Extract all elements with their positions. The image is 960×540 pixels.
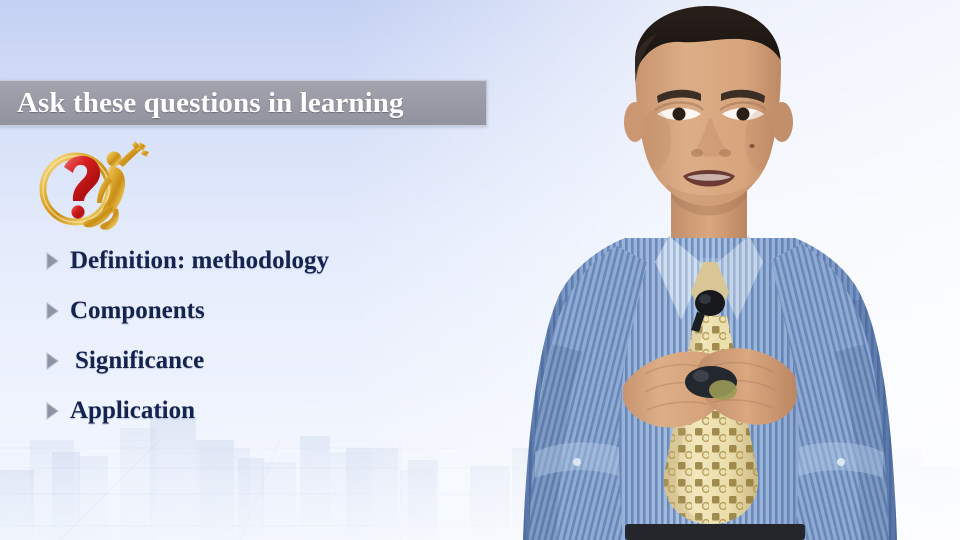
gold-figure-question-mark-icon bbox=[28, 133, 150, 237]
triangle-right-icon bbox=[44, 401, 70, 421]
list-item-label: Application bbox=[70, 397, 195, 425]
belt bbox=[625, 524, 805, 540]
list-item-label: Significance bbox=[70, 347, 204, 375]
list-item: Components bbox=[44, 286, 484, 336]
list-item: Definition: methodology bbox=[44, 236, 484, 286]
slide-stage: Ask these questions in learning bbox=[0, 0, 960, 540]
page-title: Ask these questions in learning bbox=[17, 87, 404, 120]
slide-title-banner: Ask these questions in learning bbox=[0, 80, 487, 126]
triangle-right-icon bbox=[44, 351, 70, 371]
triangle-right-icon bbox=[44, 251, 70, 271]
head bbox=[624, 0, 793, 216]
list-item-label: Components bbox=[70, 297, 205, 325]
presenter-figure bbox=[505, 0, 960, 540]
bullet-list: Definition: methodology Components Signi… bbox=[44, 236, 484, 436]
list-item: Significance bbox=[44, 336, 484, 386]
list-item: Application bbox=[44, 386, 484, 436]
question-mark-glyph bbox=[64, 156, 100, 219]
triangle-right-icon bbox=[44, 301, 70, 321]
list-item-label: Definition: methodology bbox=[70, 247, 329, 275]
